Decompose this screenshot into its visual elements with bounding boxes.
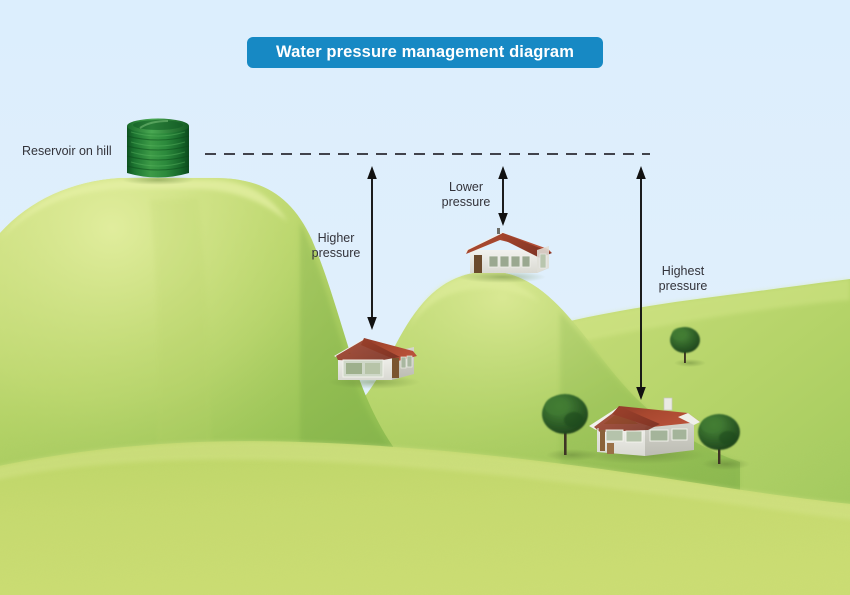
label-lower-pressure: Lower pressure — [432, 180, 500, 210]
diagram-title-banner: Water pressure management diagram — [247, 37, 603, 68]
label-highest-pressure: Highest pressure — [646, 264, 720, 294]
scene-artwork — [0, 0, 850, 595]
diagram-canvas: Water pressure management diagram Reserv… — [0, 0, 850, 595]
page-title: Water pressure management diagram — [276, 44, 574, 61]
label-reservoir-on-hill: Reservoir on hill — [22, 144, 112, 159]
label-higher-pressure: Higher pressure — [300, 231, 372, 261]
